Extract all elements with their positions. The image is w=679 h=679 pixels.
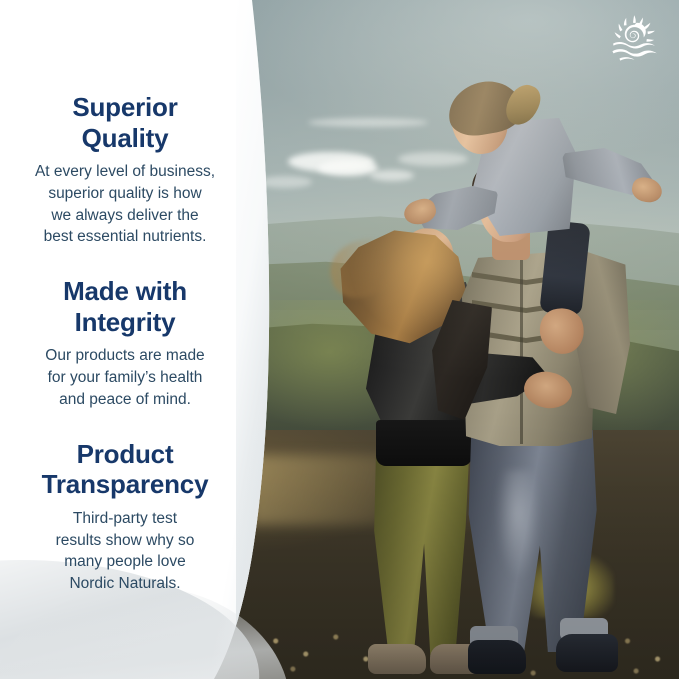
body-line-1: At every level of business, bbox=[20, 161, 230, 183]
value-prop-body: Our products are made for your family’s … bbox=[0, 345, 250, 410]
sun-wave-logo-icon bbox=[607, 14, 661, 64]
father-shoe bbox=[468, 640, 526, 674]
value-prop-title: Made withIntegrity bbox=[0, 276, 250, 337]
body-line-2: for your family’s health bbox=[20, 367, 230, 389]
title-line-1: Superior bbox=[72, 92, 177, 122]
value-prop-superior-quality: SuperiorQuality At every level of busine… bbox=[0, 92, 250, 248]
value-prop-list: SuperiorQuality At every level of busine… bbox=[0, 0, 250, 623]
mother-legs bbox=[370, 440, 474, 656]
body-line-4: best essential nutrients. bbox=[20, 226, 230, 248]
value-prop-made-with-integrity: Made withIntegrity Our products are made… bbox=[0, 276, 250, 410]
title-line-2: Integrity bbox=[75, 307, 176, 337]
vest-zipper bbox=[520, 258, 523, 444]
body-line-3: and peace of mind. bbox=[20, 389, 230, 411]
title-line-2: Quality bbox=[82, 123, 169, 153]
title-line-1: Product bbox=[77, 439, 174, 469]
body-line-4: Nordic Naturals. bbox=[20, 573, 230, 595]
body-line-1: Third-party test bbox=[20, 508, 230, 530]
mother-shirt bbox=[376, 420, 472, 466]
value-prop-product-transparency: ProductTransparency Third-party test res… bbox=[0, 439, 250, 595]
jeans-highlight bbox=[496, 470, 540, 580]
body-line-3: many people love bbox=[20, 551, 230, 573]
promo-banner: SuperiorQuality At every level of busine… bbox=[0, 0, 679, 679]
body-line-1: Our products are made bbox=[20, 345, 230, 367]
title-line-1: Made with bbox=[63, 276, 187, 306]
value-prop-title: SuperiorQuality bbox=[0, 92, 250, 153]
value-prop-title: ProductTransparency bbox=[0, 439, 250, 500]
body-line-3: we always deliver the bbox=[20, 205, 230, 227]
body-line-2: superior quality is how bbox=[20, 183, 230, 205]
child-hand-right bbox=[630, 175, 664, 205]
value-prop-body: At every level of business, superior qua… bbox=[0, 161, 250, 248]
title-line-2: Transparency bbox=[42, 469, 209, 499]
father-shoe bbox=[556, 634, 618, 672]
body-line-2: results show why so bbox=[20, 530, 230, 552]
mother-shoe bbox=[368, 644, 426, 674]
value-prop-body: Third-party test results show why so man… bbox=[0, 508, 250, 595]
